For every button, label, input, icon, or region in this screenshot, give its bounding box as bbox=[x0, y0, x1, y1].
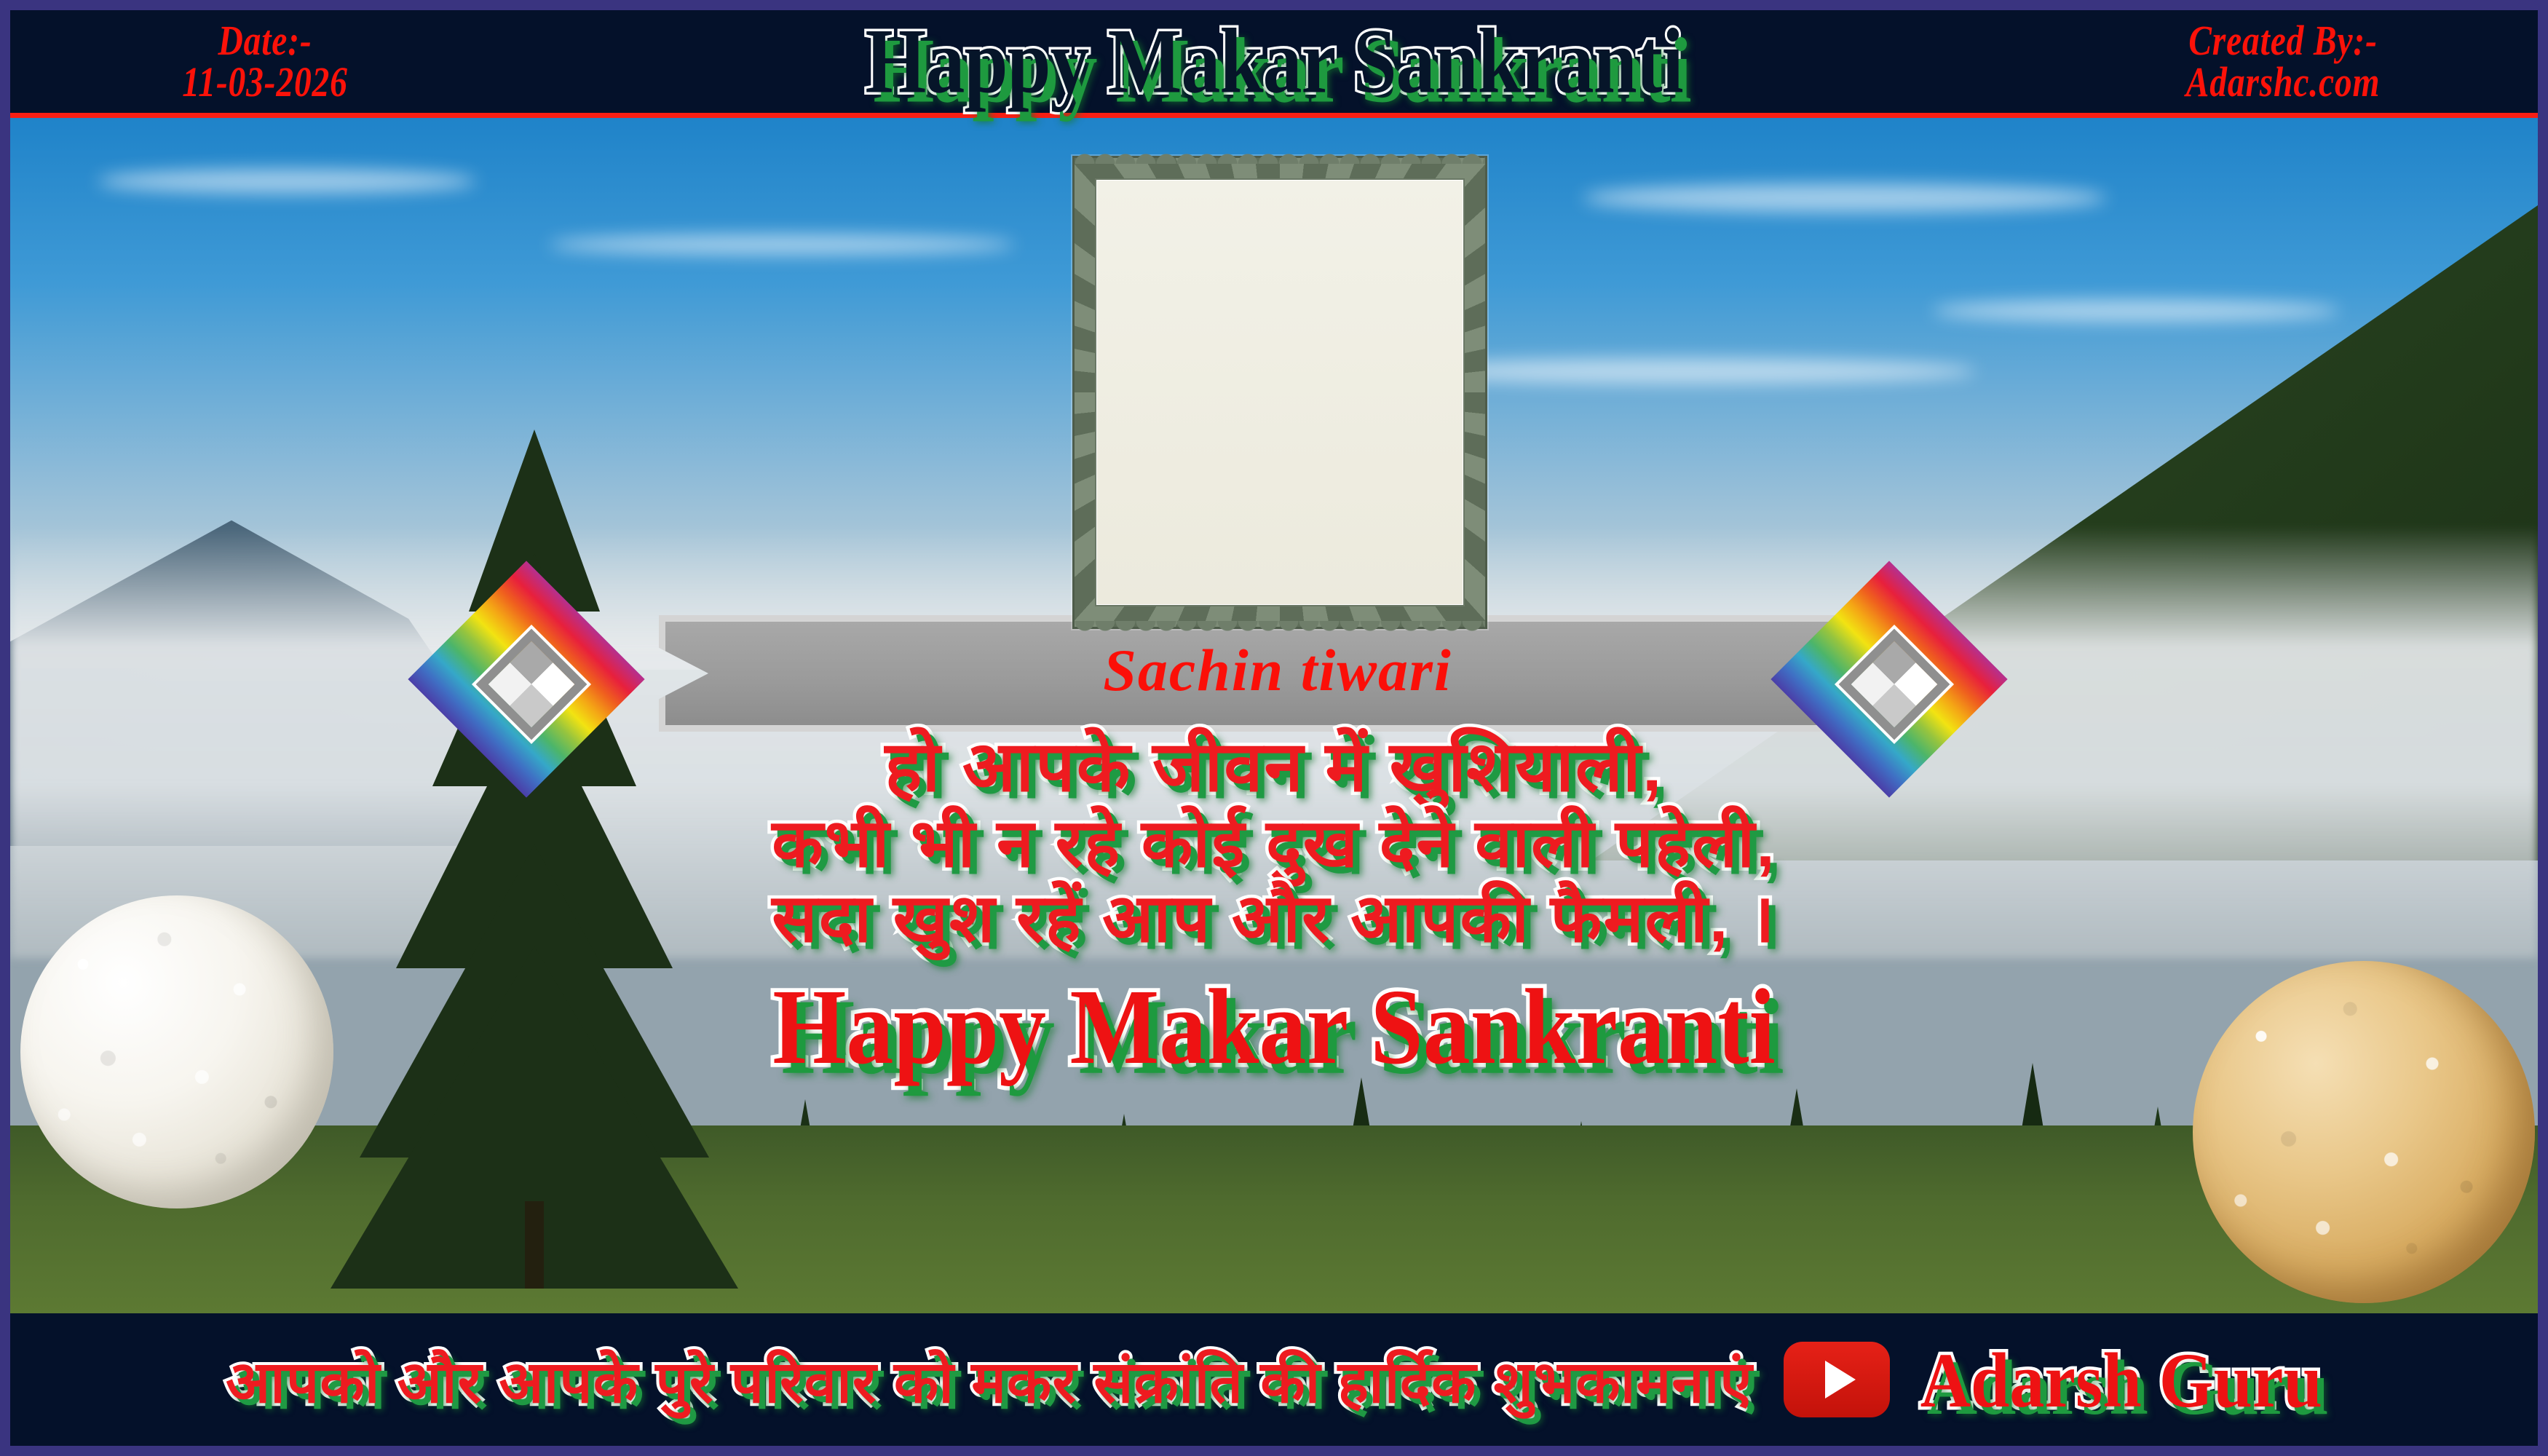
cloud-wisp bbox=[549, 234, 1015, 255]
date-label: Date:- bbox=[218, 17, 312, 64]
cloud-wisp bbox=[98, 169, 476, 194]
youtube-play-icon[interactable] bbox=[1784, 1342, 1890, 1417]
greeting-card: Date:- 11-03-2026 Happy Makar Sankranti … bbox=[0, 0, 2548, 1456]
date-block: Date:- 11-03-2026 bbox=[74, 20, 456, 103]
play-triangle-icon bbox=[1825, 1361, 1856, 1398]
recipient-name: Sachin tiwari bbox=[1103, 636, 1452, 705]
photo-placeholder[interactable] bbox=[1095, 178, 1465, 606]
verse-block: हो आपके जीवन में खुशियाली, कभी भी न रहे … bbox=[0, 728, 2548, 1082]
verse-line-3: सदा खुश रहें आप और आपकी फैमली, । bbox=[0, 882, 2548, 957]
cloud-wisp bbox=[1932, 300, 2340, 322]
cloud-wisp bbox=[1583, 183, 2107, 213]
channel-name[interactable]: Adarsh Guru bbox=[1920, 1334, 2322, 1425]
header-band: Date:- 11-03-2026 Happy Makar Sankranti … bbox=[10, 10, 2538, 118]
credit-value: Adarshc.com bbox=[2092, 62, 2474, 103]
verse-line-1: हो आपके जीवन में खुशियाली, bbox=[0, 728, 2548, 807]
credit-block: Created By:- Adarshc.com bbox=[2092, 20, 2474, 103]
header-title: Happy Makar Sankranti bbox=[498, 8, 2050, 114]
credit-label: Created By:- bbox=[2188, 17, 2377, 64]
tree-trunk bbox=[525, 1201, 544, 1289]
photo-frame[interactable] bbox=[1072, 156, 1487, 629]
footer-message: आपको और आपके पुरे परिवार को मकर संक्रांत… bbox=[226, 1340, 1753, 1420]
footer-band: आपको और आपके पुरे परिवार को मकर संक्रांत… bbox=[10, 1313, 2538, 1446]
date-value: 11-03-2026 bbox=[74, 62, 456, 103]
greeting-headline: Happy Makar Sankranti bbox=[0, 965, 2548, 1089]
verse-line-2: कभी भी न रहे कोई दुख देने वाली पहेली, bbox=[0, 807, 2548, 882]
